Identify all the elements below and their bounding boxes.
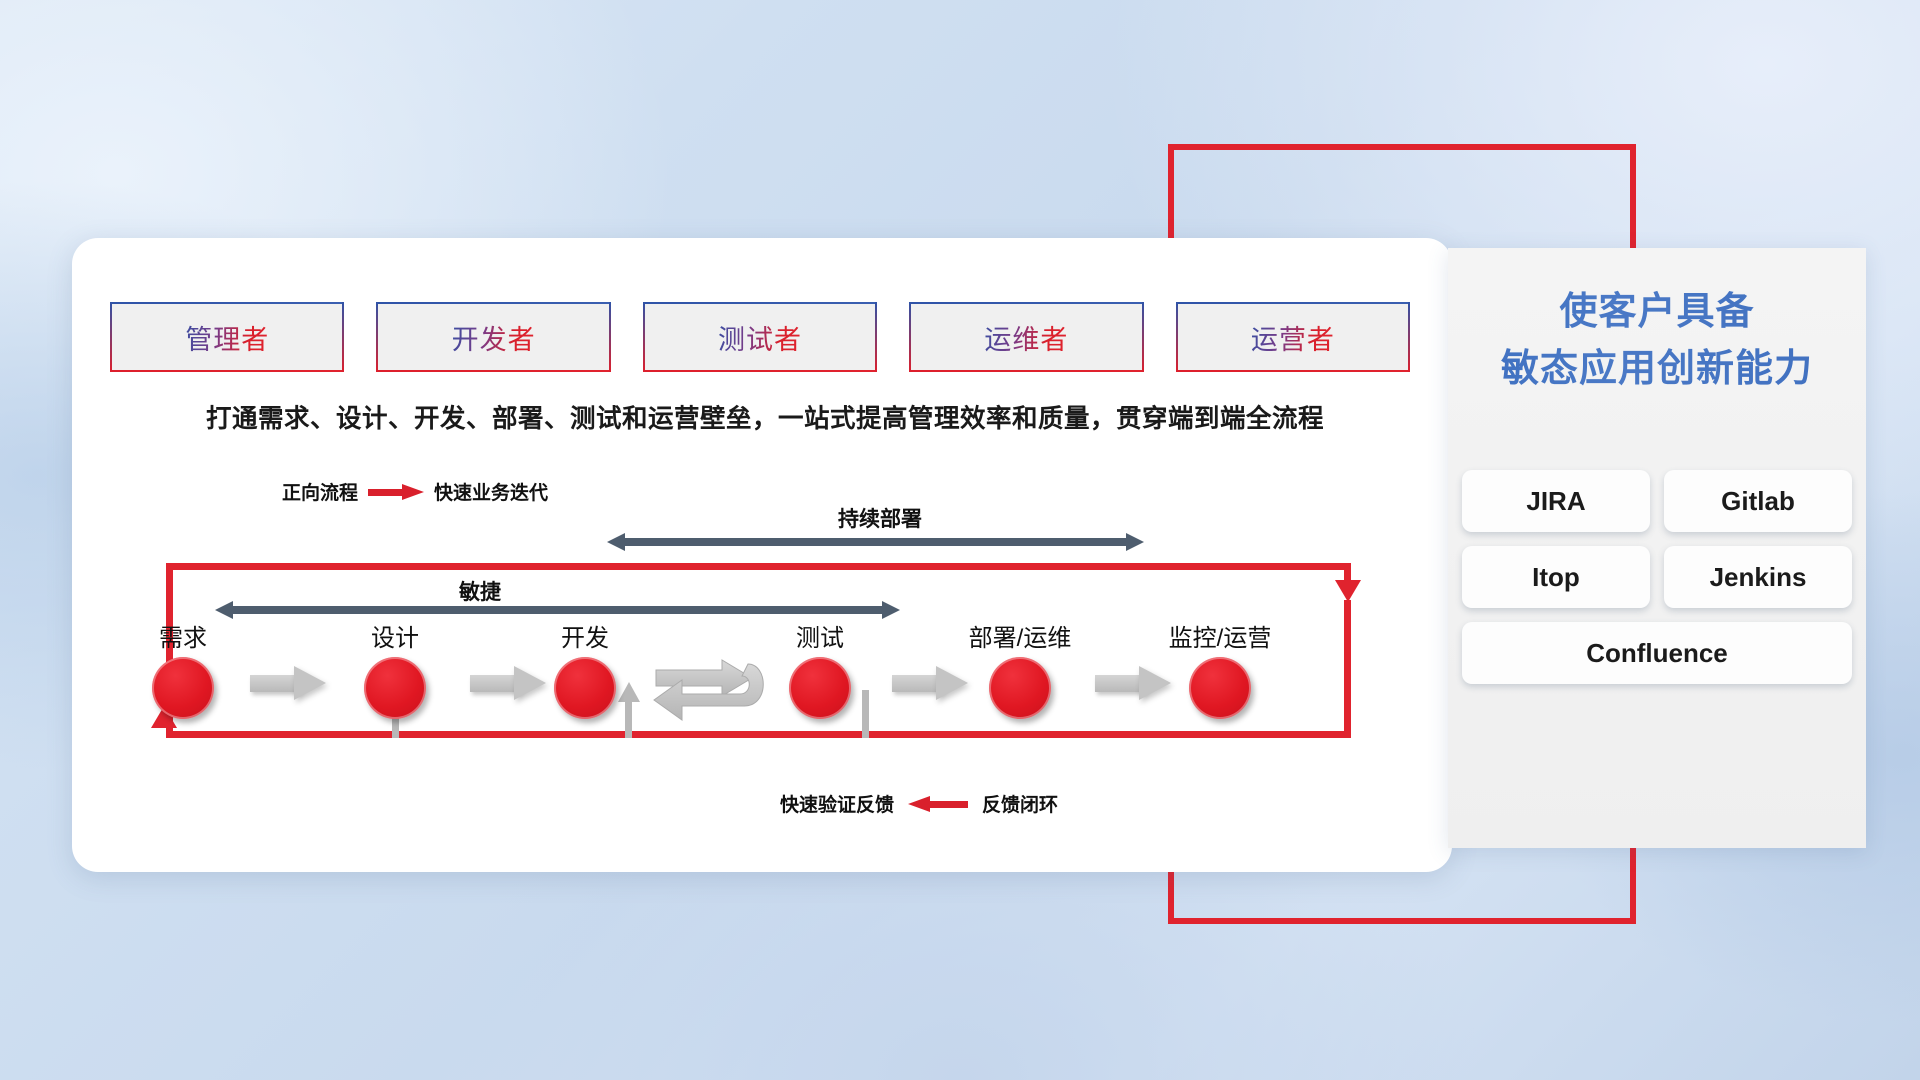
tool-itop[interactable]: Itop <box>1462 546 1650 608</box>
pipeline-stage-deploy-ops[interactable]: 部署/运维 <box>945 618 1095 719</box>
tool-jenkins[interactable]: Jenkins <box>1664 546 1852 608</box>
tool-confluence[interactable]: Confluence <box>1462 622 1852 684</box>
stage-label: 监控/运营 <box>1140 618 1300 653</box>
tool-label: JIRA <box>1526 486 1585 517</box>
stage-node <box>1189 657 1251 719</box>
role-box-developer[interactable]: 开发者 <box>376 302 610 372</box>
right-arrow-icon <box>368 484 424 500</box>
pipeline-connector-1 <box>250 666 326 700</box>
loop-top-bar <box>166 563 1351 570</box>
tool-list: JIRA Gitlab Itop Jenkins Confluence <box>1462 470 1852 684</box>
frame-top-bar <box>1168 144 1636 150</box>
right-panel-title: 使客户具备 敏态应用创新能力 <box>1448 284 1866 398</box>
continuous-deployment-label: 持续部署 <box>600 503 1160 533</box>
feedback-to-label: 反馈闭环 <box>982 790 1058 817</box>
role-label: 开发者 <box>452 318 536 357</box>
forward-flow-legend: 正向流程 快速业务迭代 <box>282 478 548 505</box>
stage-node <box>989 657 1051 719</box>
role-label: 测试者 <box>718 318 802 357</box>
pipeline-stage-requirement[interactable]: 需求 <box>128 618 238 719</box>
frame-bottom-bar <box>1168 918 1636 924</box>
right-panel: 使客户具备 敏态应用创新能力 JIRA Gitlab Itop Jenkins … <box>1448 248 1866 848</box>
continuous-deployment-arrow <box>607 533 1144 551</box>
description-text: 打通需求、设计、开发、部署、测试和运营壁垒，一站式提高管理效率和质量，贯穿端到端… <box>110 398 1420 435</box>
stage-label: 需求 <box>128 618 238 653</box>
left-arrow-icon <box>908 796 968 812</box>
role-box-business-operator[interactable]: 运营者 <box>1176 302 1410 372</box>
stage-label: 部署/运维 <box>945 618 1095 653</box>
tool-label: Gitlab <box>1721 486 1795 517</box>
pipeline-stage-monitor-operate[interactable]: 监控/运营 <box>1140 618 1300 719</box>
loop-arrow-down-icon <box>1335 580 1361 602</box>
loop-bottom-bar <box>166 731 1351 738</box>
role-box-manager[interactable]: 管理者 <box>110 302 344 372</box>
agile-arrow <box>215 601 900 619</box>
role-label: 管理者 <box>185 318 269 357</box>
loop-back-arrow-icon <box>652 648 772 726</box>
tool-label: Itop <box>1532 562 1580 593</box>
feedback-legend: 快速验证反馈 反馈闭环 <box>780 790 1058 817</box>
tool-jira[interactable]: JIRA <box>1462 470 1650 532</box>
role-label: 运维者 <box>984 318 1068 357</box>
stage-label: 开发 <box>530 618 640 653</box>
stage-node <box>364 657 426 719</box>
stage-label: 设计 <box>340 618 450 653</box>
role-box-tester[interactable]: 测试者 <box>643 302 877 372</box>
pipeline: 需求 设计 开发 测试 部署/运维 监控/运营 <box>100 618 1420 728</box>
role-box-operator[interactable]: 运维者 <box>909 302 1143 372</box>
feedback-from-label: 快速验证反馈 <box>780 790 894 817</box>
forward-flow-from-label: 正向流程 <box>282 478 358 505</box>
stage-label: 测试 <box>765 618 875 653</box>
stage-node <box>789 657 851 719</box>
pipeline-stage-develop[interactable]: 开发 <box>530 618 640 719</box>
tool-label: Confluence <box>1586 638 1728 669</box>
pipeline-stage-design[interactable]: 设计 <box>340 618 450 719</box>
role-label: 运营者 <box>1251 318 1335 357</box>
forward-flow-to-label: 快速业务迭代 <box>434 478 548 505</box>
role-box-row: 管理者 开发者 测试者 运维者 运营者 <box>110 302 1410 372</box>
stage-node <box>152 657 214 719</box>
tool-label: Jenkins <box>1710 562 1807 593</box>
tool-gitlab[interactable]: Gitlab <box>1664 470 1852 532</box>
stage-node <box>554 657 616 719</box>
right-panel-title-line1: 使客户具备 <box>1448 284 1866 341</box>
pipeline-stage-test[interactable]: 测试 <box>765 618 875 719</box>
right-panel-title-line2: 敏态应用创新能力 <box>1448 341 1866 398</box>
